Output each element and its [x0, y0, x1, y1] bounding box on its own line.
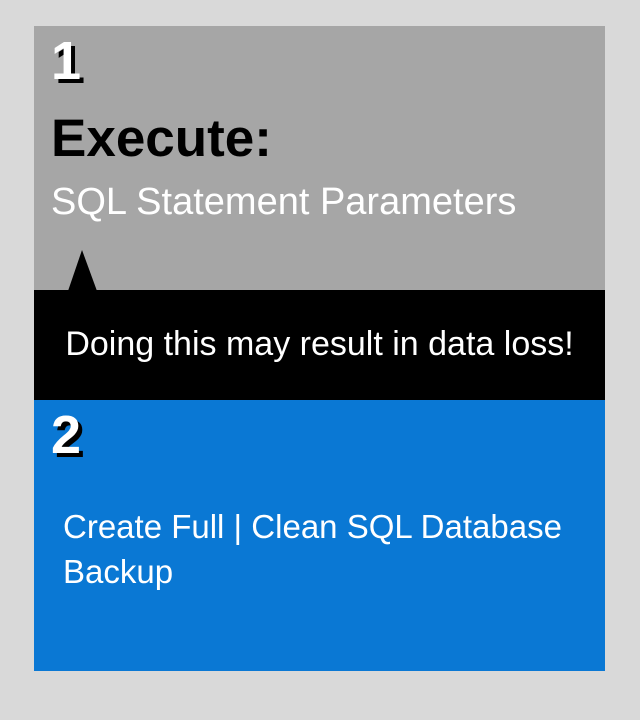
- warning-band: Doing this may result in data loss!: [34, 290, 605, 400]
- step-2-body: Create Full | Clean SQL Database Backup: [63, 505, 563, 594]
- step-1-subheadline: SQL Statement Parameters: [51, 182, 516, 224]
- warning-message: Doing this may result in data loss!: [65, 325, 573, 364]
- step-1-panel: 1 Execute: SQL Statement Parameters: [34, 26, 605, 290]
- step-2-panel: 2 Create Full | Clean SQL Database Backu…: [34, 400, 605, 671]
- triangle-up-icon: [68, 250, 97, 291]
- step-1-number: 1: [51, 34, 81, 88]
- step-2-number: 2: [51, 408, 81, 462]
- step-1-headline: Execute:: [51, 111, 272, 167]
- steps-card: 1 Execute: SQL Statement Parameters Doin…: [34, 26, 605, 671]
- screenshot-stage: 1 Execute: SQL Statement Parameters Doin…: [0, 0, 640, 720]
